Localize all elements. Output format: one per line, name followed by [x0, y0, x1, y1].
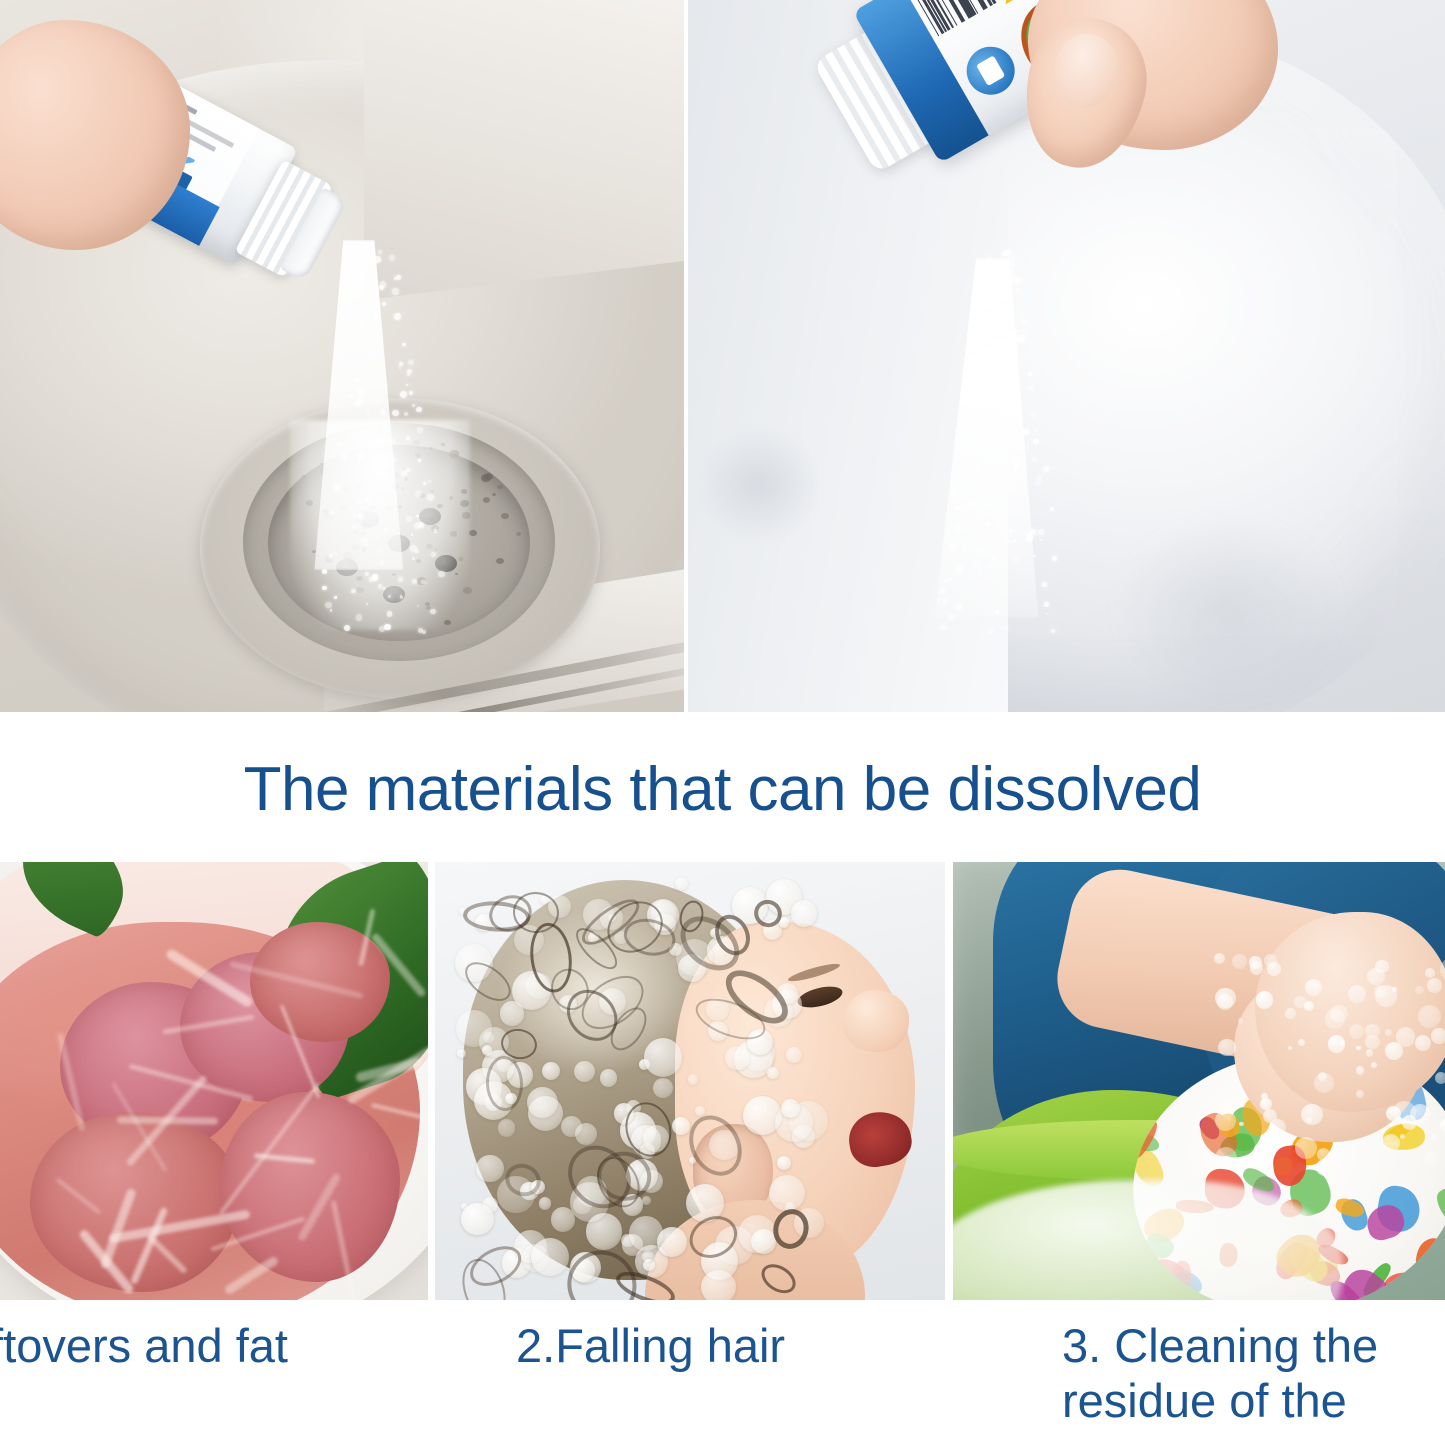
bottom-photo-row: [0, 862, 1445, 1300]
caption-cleaning-residue-line2: residue of the: [1062, 1373, 1378, 1428]
palm-left: [0, 20, 190, 250]
toilet-shadow-patch-1: [700, 430, 820, 540]
hand-holding-bottle-right: [918, 0, 1258, 240]
powder-grains-sink: [280, 250, 480, 630]
headline-text: The materials that can be dissolved: [244, 759, 1202, 821]
caption-cleaning-residue: 3. Cleaning the residue of the: [1062, 1318, 1378, 1429]
product-marketing-image: The materials that can be dissolved: [0, 0, 1445, 1445]
caption-leftovers-and-fat: eftovers and fat: [0, 1318, 434, 1373]
thumbnail-right: [1048, 28, 1124, 113]
top-photo-row: [0, 0, 1445, 712]
caption-row: eftovers and fat 2.Falling hair 3. Clean…: [0, 1300, 1445, 1445]
soap-suds: [1213, 952, 1445, 1172]
photo-toilet-bowl-demo: [688, 0, 1445, 712]
photo-dish-washing: [953, 862, 1445, 1300]
caption-falling-hair: 2.Falling hair: [516, 1318, 785, 1373]
photo-raw-meat: [0, 862, 428, 1300]
headline-band: The materials that can be dissolved: [0, 712, 1445, 862]
toilet-shadow-patch-2: [1118, 520, 1338, 700]
caption-cleaning-residue-line1: 3. Cleaning the: [1062, 1319, 1378, 1372]
hand-holding-bottle-left: [0, 0, 290, 300]
photo-child-shampoo: [435, 862, 945, 1300]
photo-sink-drain-demo: [0, 0, 684, 712]
child-nose: [843, 990, 909, 1052]
